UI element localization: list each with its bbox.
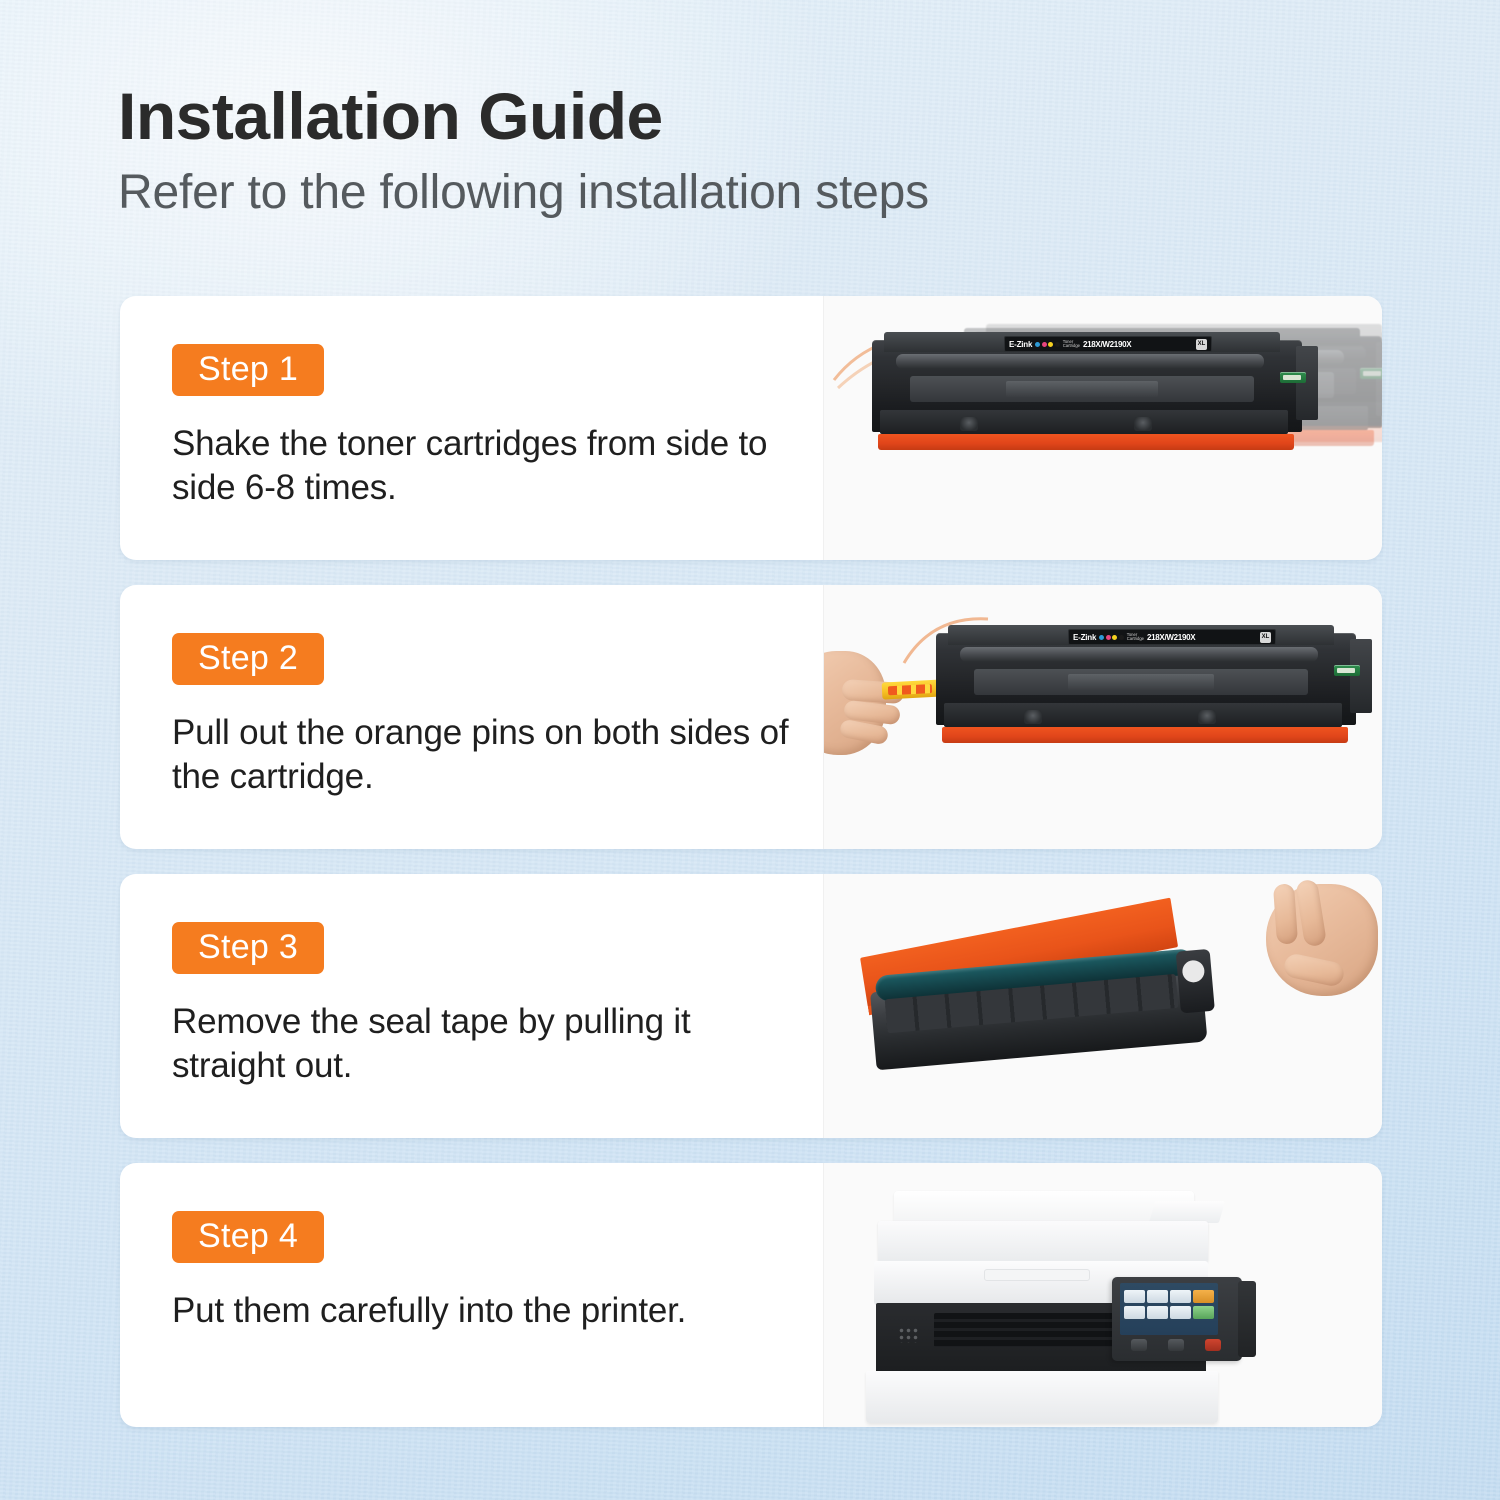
cartridge-front: E-Zink Toner Cartridge 218X/W2190X XL xyxy=(872,332,1302,450)
cartridge-type: Toner Cartridge xyxy=(1127,633,1144,642)
step-4-badge: Step 4 xyxy=(172,1211,324,1263)
step-card-1: Step 1 Shake the toner cartridges from s… xyxy=(120,296,1382,560)
printer-brand-logo-icon xyxy=(898,1327,920,1343)
cartridge-label: E-Zink Toner Cartridge 218X/W2190X XL xyxy=(1004,336,1212,352)
app-icon-apps xyxy=(1193,1306,1214,1319)
printer-door-handle xyxy=(984,1269,1090,1281)
page-title: Installation Guide xyxy=(118,82,1398,151)
hand-icon xyxy=(824,645,934,765)
printer-hard-buttons xyxy=(1120,1337,1232,1353)
step-2-image: E-Zink Toner Cartridge 218X/W2190X XL xyxy=(823,585,1382,849)
touchscreen-app-grid xyxy=(1124,1290,1214,1319)
printer-scanner-unit xyxy=(878,1221,1208,1263)
cmyk-dots-icon xyxy=(1035,342,1060,347)
orange-pull-pin xyxy=(882,679,945,699)
step-4-image xyxy=(823,1163,1382,1427)
step-3-text-area: Step 3 Remove the seal tape by pulling i… xyxy=(120,874,823,1138)
cartridge-brand: E-Zink xyxy=(1009,340,1032,349)
step-card-3: Step 3 Remove the seal tape by pulling i… xyxy=(120,874,1382,1138)
cartridge-yield-badge: XL xyxy=(1260,632,1271,643)
step-card-4: Step 4 Put them carefully into the print… xyxy=(120,1163,1382,1427)
step-1-text-area: Step 1 Shake the toner cartridges from s… xyxy=(120,296,823,560)
cartridge-model: 218X/W2190X xyxy=(1083,340,1131,349)
cmyk-dots-icon xyxy=(1099,635,1124,640)
step-card-2: Step 2 Pull out the orange pins on both … xyxy=(120,585,1382,849)
step-3-image xyxy=(823,874,1382,1138)
app-icon-scan xyxy=(1170,1290,1191,1303)
hand-icon xyxy=(1228,884,1368,1034)
step-1-badge: Step 1 xyxy=(172,344,324,396)
app-icon-scan-to-folder xyxy=(1170,1306,1191,1319)
printer-adf-lid xyxy=(894,1191,1194,1225)
installation-guide-page: Installation Guide Refer to the followin… xyxy=(0,0,1500,1500)
step-3-badge: Step 3 xyxy=(172,922,324,974)
step-4-text-area: Step 4 Put them carefully into the print… xyxy=(120,1163,823,1427)
cartridge-row-scene: E-Zink Toner Cartridge 218X/W2190X XL xyxy=(824,296,1382,560)
step-2-badge: Step 2 xyxy=(172,633,324,685)
printer-control-panel xyxy=(1112,1277,1242,1361)
seal-removal-scene xyxy=(824,874,1382,1138)
cartridge-model: 218X/W2190X xyxy=(1147,633,1195,642)
steps-list: Step 1 Shake the toner cartridges from s… xyxy=(120,296,1382,1427)
printer-illustration xyxy=(854,1191,1254,1427)
step-1-image: E-Zink Toner Cartridge 218X/W2190X XL xyxy=(823,296,1382,560)
drum-unit xyxy=(868,946,1207,1071)
cancel-button[interactable] xyxy=(1205,1339,1221,1351)
cartridge-type: Toner Cartridge xyxy=(1063,340,1080,349)
info-button[interactable] xyxy=(1168,1339,1184,1351)
page-subtitle: Refer to the following installation step… xyxy=(118,167,1398,220)
step-2-text-area: Step 2 Pull out the orange pins on both … xyxy=(120,585,823,849)
step-3-description: Remove the seal tape by pulling it strai… xyxy=(172,1000,792,1088)
cartridge-yield-badge: XL xyxy=(1196,339,1207,350)
printer-paper-cassette xyxy=(866,1371,1218,1423)
cartridge-brand: E-Zink xyxy=(1073,633,1096,642)
app-icon-scan-to-email xyxy=(1147,1306,1168,1319)
step-2-description: Pull out the orange pins on both sides o… xyxy=(172,711,792,799)
cartridge-label: E-Zink Toner Cartridge 218X/W2190X XL xyxy=(1068,629,1276,645)
page-header: Installation Guide Refer to the followin… xyxy=(118,82,1398,220)
app-icon-supplies xyxy=(1193,1290,1214,1303)
app-icon-copy xyxy=(1124,1290,1145,1303)
app-icon-fax xyxy=(1147,1290,1168,1303)
printer-touchscreen xyxy=(1120,1283,1218,1335)
step-1-description: Shake the toner cartridges from side to … xyxy=(172,422,792,510)
pin-pull-scene: E-Zink Toner Cartridge 218X/W2190X XL xyxy=(824,585,1382,849)
cartridge-front: E-Zink Toner Cartridge 218X/W2190X XL xyxy=(936,625,1356,743)
home-button[interactable] xyxy=(1131,1339,1147,1351)
step-4-description: Put them carefully into the printer. xyxy=(172,1289,792,1333)
app-icon-usb-print xyxy=(1124,1306,1145,1319)
printer-usb-port-panel xyxy=(1238,1281,1256,1357)
